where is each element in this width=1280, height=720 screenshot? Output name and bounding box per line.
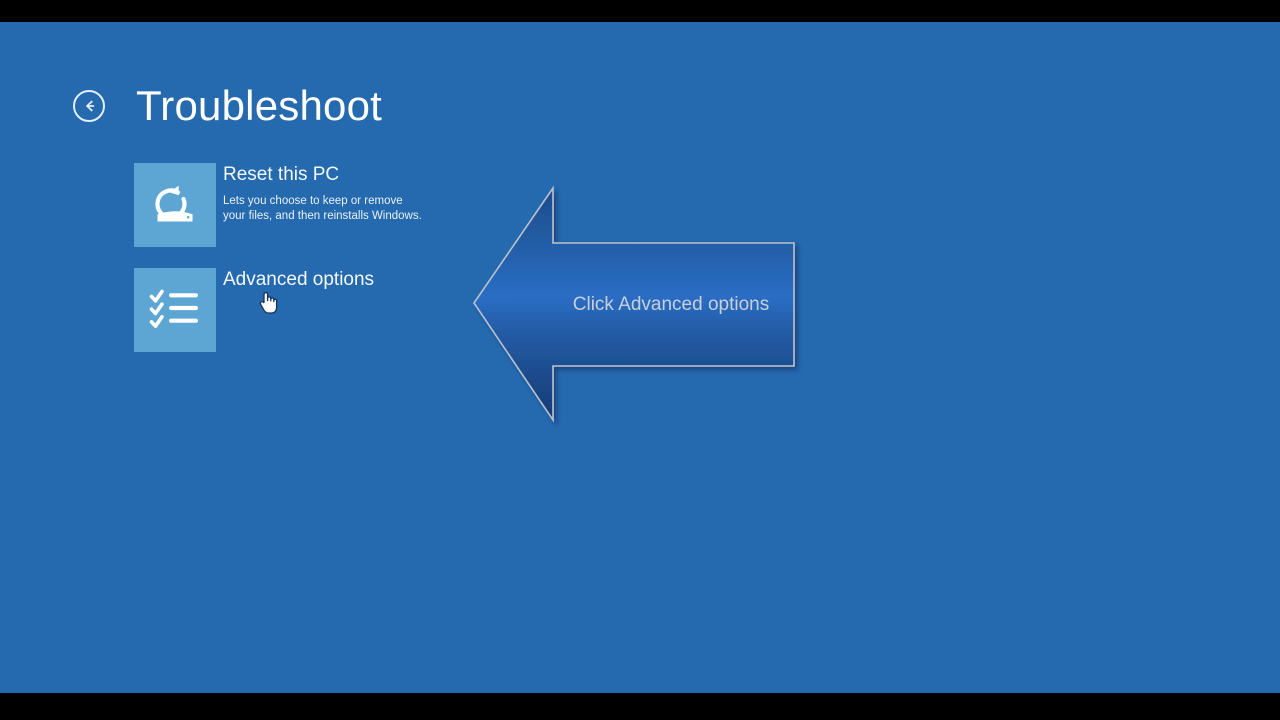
- mouse-cursor: [258, 290, 280, 316]
- back-arrow-icon: [79, 96, 99, 116]
- reset-this-pc-text: Reset this PC Lets you choose to keep or…: [223, 163, 422, 224]
- checklist-icon: [149, 288, 201, 332]
- screen-root: Troubleshoot Reset this PC: [0, 0, 1280, 720]
- reset-this-pc-description-line1: Lets you choose to keep or remove: [223, 194, 422, 209]
- hand-pointer-icon: [258, 290, 280, 316]
- advanced-options-title: Advanced options: [223, 268, 374, 292]
- recovery-environment-screen: Troubleshoot Reset this PC: [0, 22, 1280, 693]
- callout-arrow: Click Advanced options: [470, 182, 800, 427]
- letterbox-bottom: [0, 693, 1280, 720]
- letterbox-top: [0, 0, 1280, 22]
- back-button[interactable]: [73, 90, 105, 122]
- page-title: Troubleshoot: [136, 80, 382, 132]
- advanced-options-text: Advanced options: [223, 268, 374, 292]
- reset-this-pc-description: Lets you choose to keep or remove your f…: [223, 194, 422, 224]
- reset-this-pc-description-line2: your files, and then reinstalls Windows.: [223, 209, 422, 224]
- reset-this-pc-title: Reset this PC: [223, 163, 422, 187]
- advanced-options-tile[interactable]: [134, 268, 216, 352]
- reset-pc-icon: [147, 177, 203, 233]
- reset-this-pc-tile[interactable]: [134, 163, 216, 247]
